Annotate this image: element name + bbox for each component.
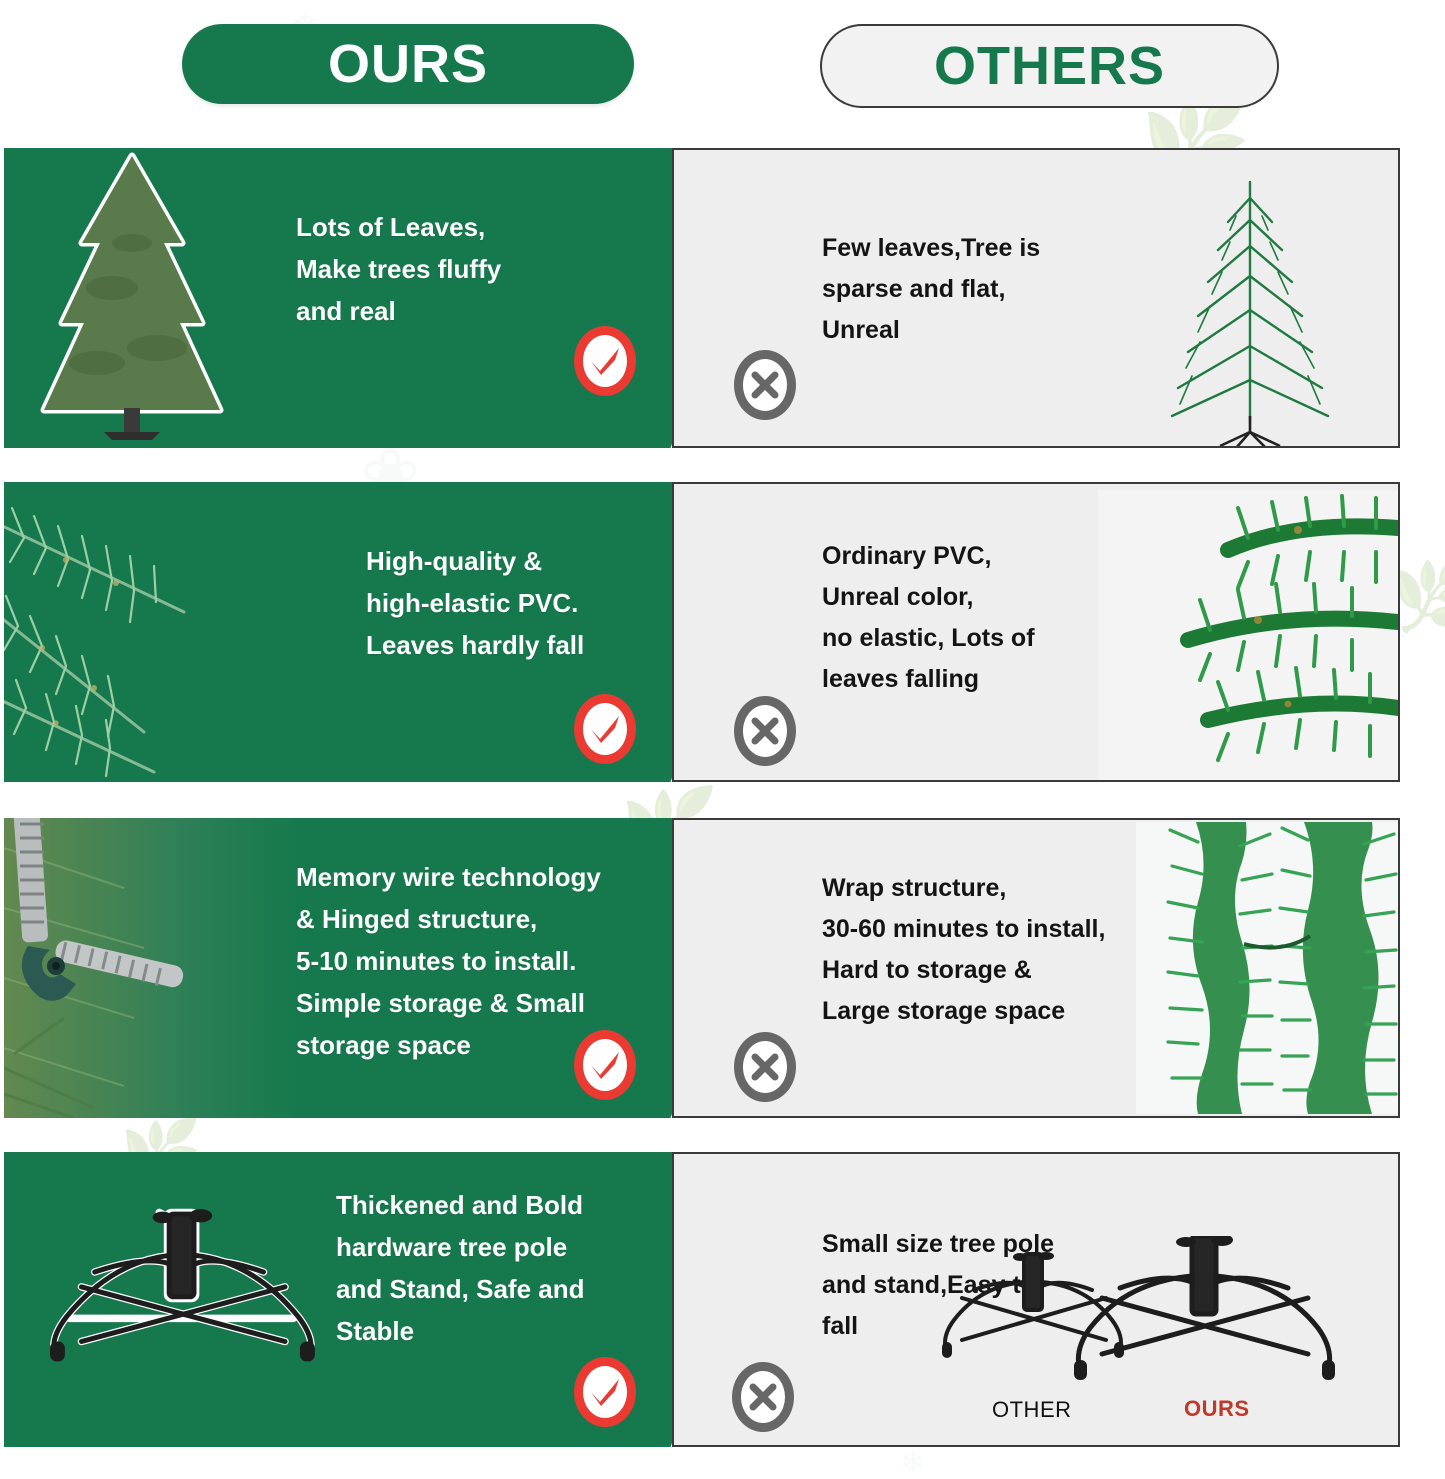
check-badge (574, 694, 636, 764)
heavy-duty-metal-tree-stand-photo-icon (14, 1176, 374, 1416)
x-badge (732, 1362, 794, 1432)
plastic-pvc-branch-closeup-photo-icon (1098, 490, 1398, 780)
ours-row-text: High-quality & high-elastic PVC. Leaves … (366, 540, 706, 666)
x-badge (734, 1032, 796, 1102)
sparse-christmas-tree-photo-icon (1140, 164, 1360, 448)
ours-header-label: OURS (328, 33, 488, 95)
close-icon (750, 370, 780, 400)
wrapped-tree-pole-photo-icon (1136, 822, 1398, 1114)
close-icon (750, 716, 780, 746)
check-badge (574, 326, 636, 396)
ours-row-text: Thickened and Bold hardware tree pole an… (336, 1184, 666, 1352)
others-row-text: Few leaves,Tree is sparse and flat, Unre… (822, 228, 1152, 351)
ours-header-pill: OURS (182, 24, 634, 104)
comparison-row: Lots of Leaves, Make trees fluffy and re… (0, 148, 1445, 448)
check-icon (588, 346, 622, 376)
check-badge (574, 1030, 636, 1100)
ours-panel: Memory wire technology & Hinged structur… (4, 818, 779, 1118)
ours-row-text: Lots of Leaves, Make trees fluffy and re… (296, 206, 626, 332)
check-icon (588, 1377, 622, 1407)
others-header-pill: OTHERS (820, 24, 1279, 108)
ours-panel: Thickened and Bold hardware tree pole an… (4, 1152, 779, 1447)
stand-label-ours: OURS (1184, 1396, 1250, 1422)
comparison-row: Memory wire technology & Hinged structur… (0, 818, 1445, 1118)
hinged-branch-memory-wire-photo-icon (4, 818, 294, 1118)
others-panel: Few leaves,Tree is sparse and flat, Unre… (672, 148, 1400, 448)
full-christmas-tree-dense-photo-icon (12, 148, 252, 448)
stand-label-other: OTHER (992, 1397, 1072, 1423)
check-badge (574, 1357, 636, 1427)
realistic-pine-branch-closeup-photo-icon (4, 482, 344, 782)
comparison-row: Thickened and Bold hardware tree pole an… (0, 1152, 1445, 1447)
ours-panel: Lots of Leaves, Make trees fluffy and re… (4, 148, 779, 448)
x-badge (734, 696, 796, 766)
snowflake-deco-icon: ❄ (900, 1448, 925, 1478)
comparison-header: OURS OTHERS (0, 0, 1445, 140)
check-icon (588, 1050, 622, 1080)
close-icon (750, 1052, 780, 1082)
close-icon (748, 1382, 778, 1412)
others-panel: Ordinary PVC, Unreal color, no elastic, … (672, 482, 1400, 782)
ours-panel: High-quality & high-elastic PVC. Leaves … (4, 482, 779, 782)
others-panel: Small size tree pole and stand,Easy to f… (672, 1152, 1400, 1447)
check-icon (588, 714, 622, 744)
others-header-label: OTHERS (934, 35, 1165, 97)
comparison-row: High-quality & high-elastic PVC. Leaves … (0, 482, 1445, 782)
others-panel: Wrap structure, 30-60 minutes to install… (672, 818, 1400, 1118)
x-badge (734, 350, 796, 420)
